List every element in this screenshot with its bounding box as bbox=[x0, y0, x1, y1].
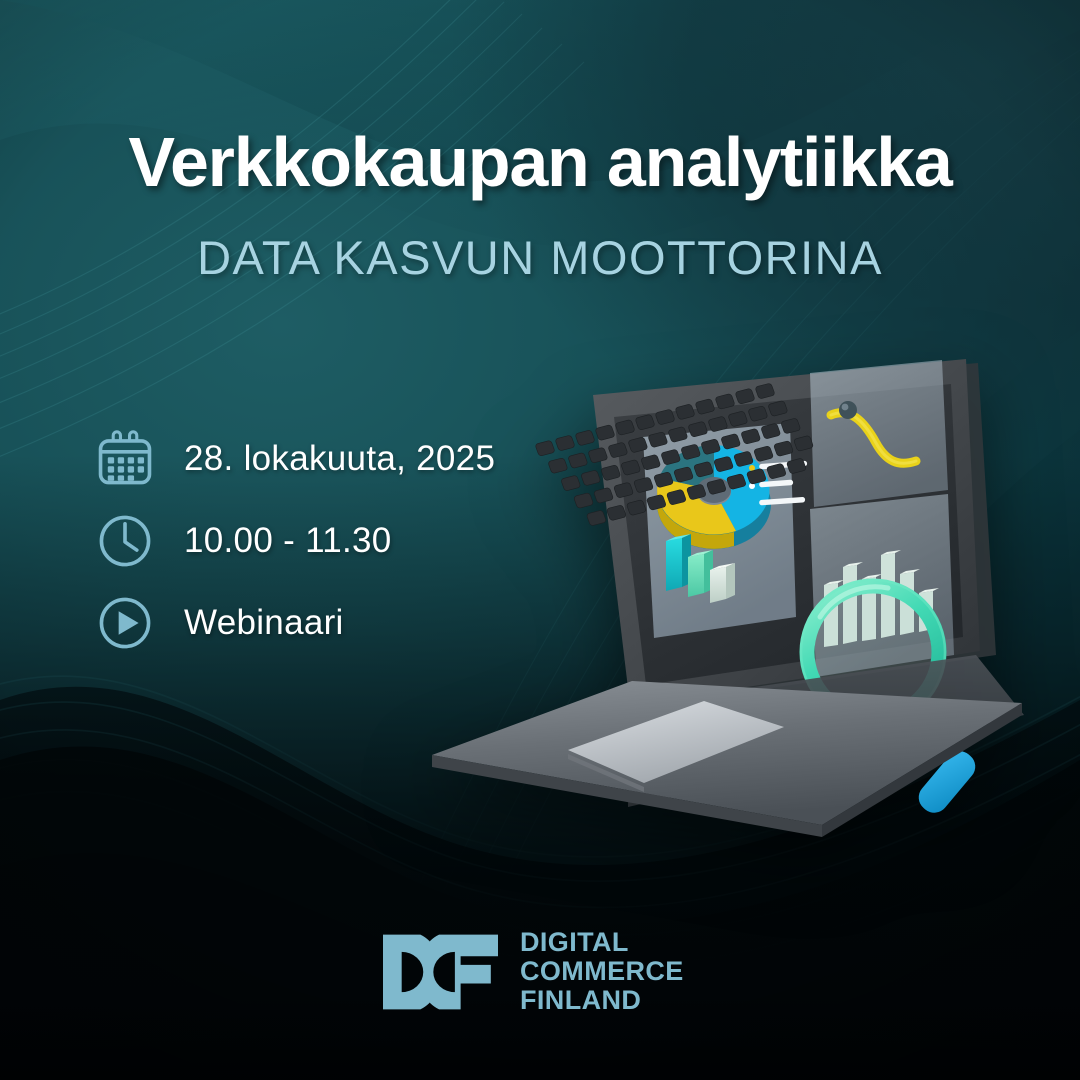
dcf-monogram-icon bbox=[383, 931, 498, 1013]
page-subtitle: DATA KASVUN MOOTTORINA bbox=[0, 232, 1080, 284]
logo-line-commerce: COMMERCE bbox=[520, 957, 684, 986]
logo-line-digital: DIGITAL bbox=[520, 928, 684, 957]
event-format-label: Webinaari bbox=[184, 603, 344, 643]
laptop-3d-graphic bbox=[418, 355, 1038, 855]
page-title: Verkkokaupan analytiikka bbox=[0, 126, 1080, 200]
play-icon bbox=[96, 594, 154, 652]
logo-wordmark: DIGITAL COMMERCE FINLAND bbox=[520, 928, 684, 1015]
webinar-promo-poster: Verkkokaupan analytiikka DATA KASVUN MOO… bbox=[0, 0, 1080, 1080]
laptop-analytics-illustration bbox=[418, 355, 1038, 855]
calendar-icon bbox=[96, 430, 154, 488]
clock-icon bbox=[96, 512, 154, 570]
logo-line-finland: FINLAND bbox=[520, 986, 684, 1015]
dcf-logo: DIGITAL COMMERCE FINLAND bbox=[383, 928, 684, 1015]
event-time-label: 10.00 - 11.30 bbox=[184, 521, 392, 561]
